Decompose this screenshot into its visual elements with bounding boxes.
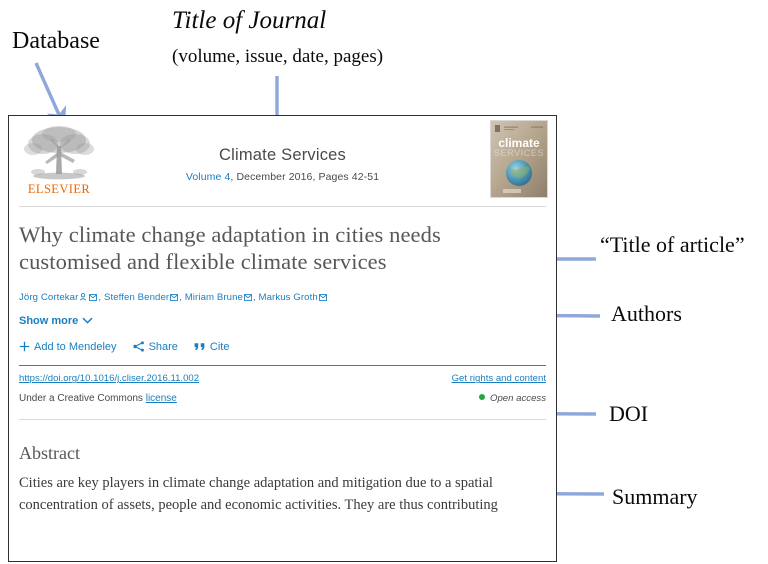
license-prefix: Under a Creative Commons bbox=[19, 393, 146, 404]
annotated-figure: Database Title of Journal (volume, issue… bbox=[0, 0, 768, 564]
author-email-icon[interactable] bbox=[319, 293, 327, 305]
author-name[interactable]: Markus Groth bbox=[259, 292, 318, 303]
show-more-authors-button[interactable]: Show more bbox=[19, 315, 546, 327]
license-link[interactable]: license bbox=[146, 393, 177, 404]
author-email-icon[interactable] bbox=[244, 293, 252, 305]
cite-label: Cite bbox=[210, 341, 230, 353]
quote-icon bbox=[194, 342, 206, 355]
license-row: Under a Creative Commons license Open ac… bbox=[19, 393, 546, 407]
share-button[interactable]: Share bbox=[133, 341, 178, 355]
plus-icon bbox=[19, 341, 30, 355]
issue-meta-rest: , December 2016, Pages 42-51 bbox=[230, 171, 379, 183]
chevron-down-icon bbox=[82, 315, 93, 327]
journal-issue-meta: Volume 4, December 2016, Pages 42-51 bbox=[9, 171, 556, 183]
journal-cover-image: climate SERVICES bbox=[491, 121, 547, 197]
open-access-label: Open access bbox=[490, 393, 546, 404]
abstract-heading: Abstract bbox=[19, 443, 546, 464]
author-name[interactable]: Jörg Cortekar bbox=[19, 292, 78, 303]
elsevier-wordmark: ELSEVIER bbox=[23, 182, 95, 197]
doi-section-divider bbox=[19, 365, 546, 366]
annotation-label-summary: Summary bbox=[612, 486, 698, 508]
author-email-icon[interactable] bbox=[170, 293, 178, 305]
doi-section: https://doi.org/10.1016/j.cliser.2016.11… bbox=[9, 373, 556, 407]
journal-identity: Climate Services Volume 4, December 2016… bbox=[9, 146, 556, 183]
annotation-label-authors: Authors bbox=[611, 303, 682, 325]
abstract-text: Cities are key players in climate change… bbox=[19, 473, 539, 517]
annotation-label-journal-title: Title of Journal bbox=[172, 8, 326, 33]
article-actions: Add to MendeleyShareCite bbox=[19, 341, 546, 355]
doi-row: https://doi.org/10.1016/j.cliser.2016.11… bbox=[19, 373, 546, 387]
open-access-dot-icon bbox=[479, 394, 485, 400]
volume-link[interactable]: Volume 4 bbox=[186, 171, 231, 183]
article-title[interactable]: Why climate change adaptation in cities … bbox=[19, 221, 546, 276]
get-rights-and-content-link[interactable]: Get rights and content bbox=[452, 373, 546, 384]
share-icon bbox=[133, 341, 145, 355]
annotation-label-journal-subtitle: (volume, issue, date, pages) bbox=[172, 47, 383, 66]
journal-name[interactable]: Climate Services bbox=[9, 146, 556, 165]
article-header: ELSEVIER Climate Services Volume 4, Dece… bbox=[9, 116, 556, 206]
add-to-mendeley-label: Add to Mendeley bbox=[34, 341, 117, 353]
author-email-icon[interactable] bbox=[89, 293, 97, 305]
sciencedirect-article-card: ELSEVIER Climate Services Volume 4, Dece… bbox=[8, 115, 557, 562]
doi-link[interactable]: https://doi.org/10.1016/j.cliser.2016.11… bbox=[19, 373, 199, 384]
author-name[interactable]: Miriam Brune bbox=[185, 292, 243, 303]
open-access-badge: Open access bbox=[479, 393, 546, 404]
journal-cover-thumbnail[interactable]: climate SERVICES bbox=[490, 120, 548, 198]
share-label: Share bbox=[149, 341, 178, 353]
annotation-label-doi: DOI bbox=[609, 403, 648, 425]
show-more-label: Show more bbox=[19, 315, 78, 327]
annotation-label-article-title: “Title of article” bbox=[600, 234, 745, 256]
author-name[interactable]: Steffen Bender bbox=[104, 292, 169, 303]
abstract-section: Abstract Cities are key players in clima… bbox=[9, 420, 556, 517]
add-to-mendeley-button[interactable]: Add to Mendeley bbox=[19, 341, 117, 355]
svg-text:SERVICES: SERVICES bbox=[494, 148, 544, 158]
author-list: Jörg Cortekar, Steffen Bender, Miriam Br… bbox=[19, 292, 546, 305]
cite-button[interactable]: Cite bbox=[194, 341, 230, 355]
author-profile-icon[interactable] bbox=[79, 293, 87, 305]
article-main: Why climate change adaptation in cities … bbox=[9, 207, 556, 355]
annotation-label-database: Database bbox=[12, 29, 100, 53]
